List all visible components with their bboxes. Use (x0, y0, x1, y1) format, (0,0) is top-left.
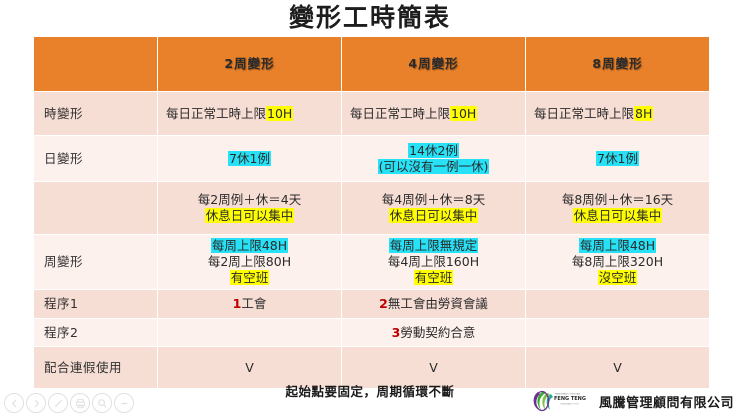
cell-text: 每2周上限80H (208, 254, 291, 269)
highlighted-text: 有空班 (230, 270, 270, 285)
row-label: 程序1 (34, 290, 157, 318)
table-cell: 每4周例＋休＝8天休息日可以集中 (342, 182, 525, 234)
table-row: 時變形每日正常工時上限10H每日正常工時上限10H每日正常工時上限8H (34, 92, 709, 135)
table-cell: 每日正常工時上限10H (342, 92, 525, 135)
cell-text: V (613, 360, 622, 375)
cell-text: V (429, 360, 438, 375)
cell-line: 每周上限48H (530, 238, 705, 254)
table-cell: 2無工會由勞資會議 (342, 290, 525, 318)
cell-line: 休息日可以集中 (162, 208, 337, 224)
cell-line: 沒空班 (530, 270, 705, 286)
step-number: 2 (379, 296, 388, 311)
highlighted-text: 8H (634, 106, 653, 121)
cell-text: 每4周上限160H (388, 254, 479, 269)
cell-line: 休息日可以集中 (530, 208, 705, 224)
cell-line: 每日正常工時上限8H (534, 106, 705, 122)
cell-line: 7休1例 (530, 151, 705, 167)
table-cell: 每日正常工時上限8H (526, 92, 709, 135)
highlighted-text: 休息日可以集中 (389, 208, 479, 223)
cell-line: 每8周例＋休＝16天 (530, 192, 705, 208)
search-icon[interactable] (92, 393, 112, 413)
cell-line: 每周上限48H (162, 238, 337, 254)
cell-line: 每周上限無規定 (346, 238, 521, 254)
table-cell: 每周上限無規定每4周上限160H有空班 (342, 235, 525, 289)
cell-line: 每日正常工時上限10H (166, 106, 337, 122)
row-label: 周變形 (34, 235, 157, 289)
highlighted-text: 14休2例 (408, 143, 459, 158)
cell-text: V (245, 360, 254, 375)
table-cell: 14休2例(可以沒有一例一休) (342, 136, 525, 181)
table-cell (526, 319, 709, 346)
column-header-2week: 2周變形 (158, 37, 341, 91)
highlighted-text: 每周上限48H (579, 238, 656, 253)
table-cell: 7休1例 (526, 136, 709, 181)
next-icon[interactable] (26, 393, 46, 413)
cell-line: 每4周例＋休＝8天 (346, 192, 521, 208)
column-header-8week: 8周變形 (526, 37, 709, 91)
cell-text: 每日正常工時上限 (166, 106, 266, 121)
table-row: 程序11工會2無工會由勞資會議 (34, 290, 709, 318)
minus-icon[interactable] (114, 393, 134, 413)
feng-teng-logo-icon: FENG TENG MANAGEMENT CONSULTANT CONSULTA… (531, 389, 593, 413)
svg-text:CONSULTANT CO.LTD: CONSULTANT CO.LTD (560, 403, 579, 406)
cell-line: 每8周上限320H (530, 254, 705, 270)
header-corner-cell (34, 37, 157, 91)
highlighted-text: 7休1例 (228, 151, 271, 166)
highlighted-text: 休息日可以集中 (205, 208, 295, 223)
table-row: 每2周例＋休＝4天休息日可以集中每4周例＋休＝8天休息日可以集中每8周例＋休＝1… (34, 182, 709, 234)
column-header-4week: 4周變形 (342, 37, 525, 91)
svg-text:MANAGEMENT CONSULTANT: MANAGEMENT CONSULTANT (555, 393, 581, 396)
cell-line: 1工會 (162, 296, 337, 312)
cell-text: 每日正常工時上限 (350, 106, 450, 121)
table-cell: 每8周例＋休＝16天休息日可以集中 (526, 182, 709, 234)
previous-icon[interactable] (4, 393, 24, 413)
table-cell: 每日正常工時上限10H (158, 92, 341, 135)
row-label: 日變形 (34, 136, 157, 181)
cell-line: 有空班 (162, 270, 337, 286)
highlighted-text: 有空班 (414, 270, 454, 285)
table-row: 程序23勞動契約合意 (34, 319, 709, 346)
cell-line: V (346, 360, 521, 376)
table-cell: 每周上限48H每2周上限80H有空班 (158, 235, 341, 289)
brand-name: 風騰管理顧問有限公司 (599, 392, 734, 411)
cell-line: 每2周例＋休＝4天 (162, 192, 337, 208)
table-cell: 1工會 (158, 290, 341, 318)
brand-block: FENG TENG MANAGEMENT CONSULTANT CONSULTA… (531, 389, 734, 413)
highlighted-text: 7休1例 (596, 151, 639, 166)
page-title: 變形工時簡表 (0, 2, 740, 34)
cell-text: 每8周上限320H (572, 254, 663, 269)
cell-text: 勞動契約合意 (400, 325, 475, 340)
table-row: 周變形每周上限48H每2周上限80H有空班每周上限無規定每4周上限160H有空班… (34, 235, 709, 289)
highlighted-text: (可以沒有一例一休) (378, 159, 490, 174)
table-row: 日變形7休1例14休2例(可以沒有一例一休)7休1例 (34, 136, 709, 181)
print-icon[interactable] (70, 393, 90, 413)
highlighted-text: 每周上限無規定 (389, 238, 479, 253)
highlighted-text: 休息日可以集中 (573, 208, 663, 223)
cell-line: 2無工會由勞資會議 (346, 296, 521, 312)
cell-line: (可以沒有一例一休) (346, 159, 521, 175)
cell-line: 每2周上限80H (162, 254, 337, 270)
cell-text: 每日正常工時上限 (534, 106, 634, 121)
table-cell: 7休1例 (158, 136, 341, 181)
cell-line: 有空班 (346, 270, 521, 286)
cell-line: 每4周上限160H (346, 254, 521, 270)
pen-icon[interactable] (48, 393, 68, 413)
cell-text: 每2周例＋休＝4天 (198, 192, 301, 207)
highlighted-text: 10H (266, 106, 293, 121)
cell-text: 無工會由勞資會議 (388, 296, 488, 311)
cell-line: V (530, 360, 705, 376)
cell-line: 3勞動契約合意 (346, 325, 521, 341)
table-cell: 3勞動契約合意 (342, 319, 525, 346)
cell-text: 工會 (241, 296, 266, 311)
cell-line: 7休1例 (162, 151, 337, 167)
table-cell (158, 319, 341, 346)
highlighted-text: 沒空班 (598, 270, 638, 285)
cell-text: 每8周例＋休＝16天 (562, 192, 673, 207)
brand-logo-text: FENG TENG (554, 396, 586, 402)
cell-line: 每日正常工時上限10H (350, 106, 521, 122)
table-cell: 每周上限48H每8周上限320H沒空班 (526, 235, 709, 289)
table-body: 時變形每日正常工時上限10H每日正常工時上限10H每日正常工時上限8H日變形7休… (34, 92, 709, 388)
cell-line: 休息日可以集中 (346, 208, 521, 224)
cell-text: 每4周例＋休＝8天 (382, 192, 485, 207)
table-header-row: 2周變形 4周變形 8周變形 (34, 37, 709, 91)
table-header: 2周變形 4周變形 8周變形 (34, 37, 709, 91)
cell-line: 14休2例 (346, 143, 521, 159)
viewer-controls[interactable] (4, 393, 134, 413)
table-cell: 每2周例＋休＝4天休息日可以集中 (158, 182, 341, 234)
table-cell (526, 290, 709, 318)
highlighted-text: 每周上限48H (211, 238, 288, 253)
variable-working-hours-table: 2周變形 4周變形 8周變形 時變形每日正常工時上限10H每日正常工時上限10H… (33, 36, 710, 389)
highlighted-text: 10H (450, 106, 477, 121)
row-label: 時變形 (34, 92, 157, 135)
row-label (34, 182, 157, 234)
cell-line: V (162, 360, 337, 376)
row-label: 程序2 (34, 319, 157, 346)
